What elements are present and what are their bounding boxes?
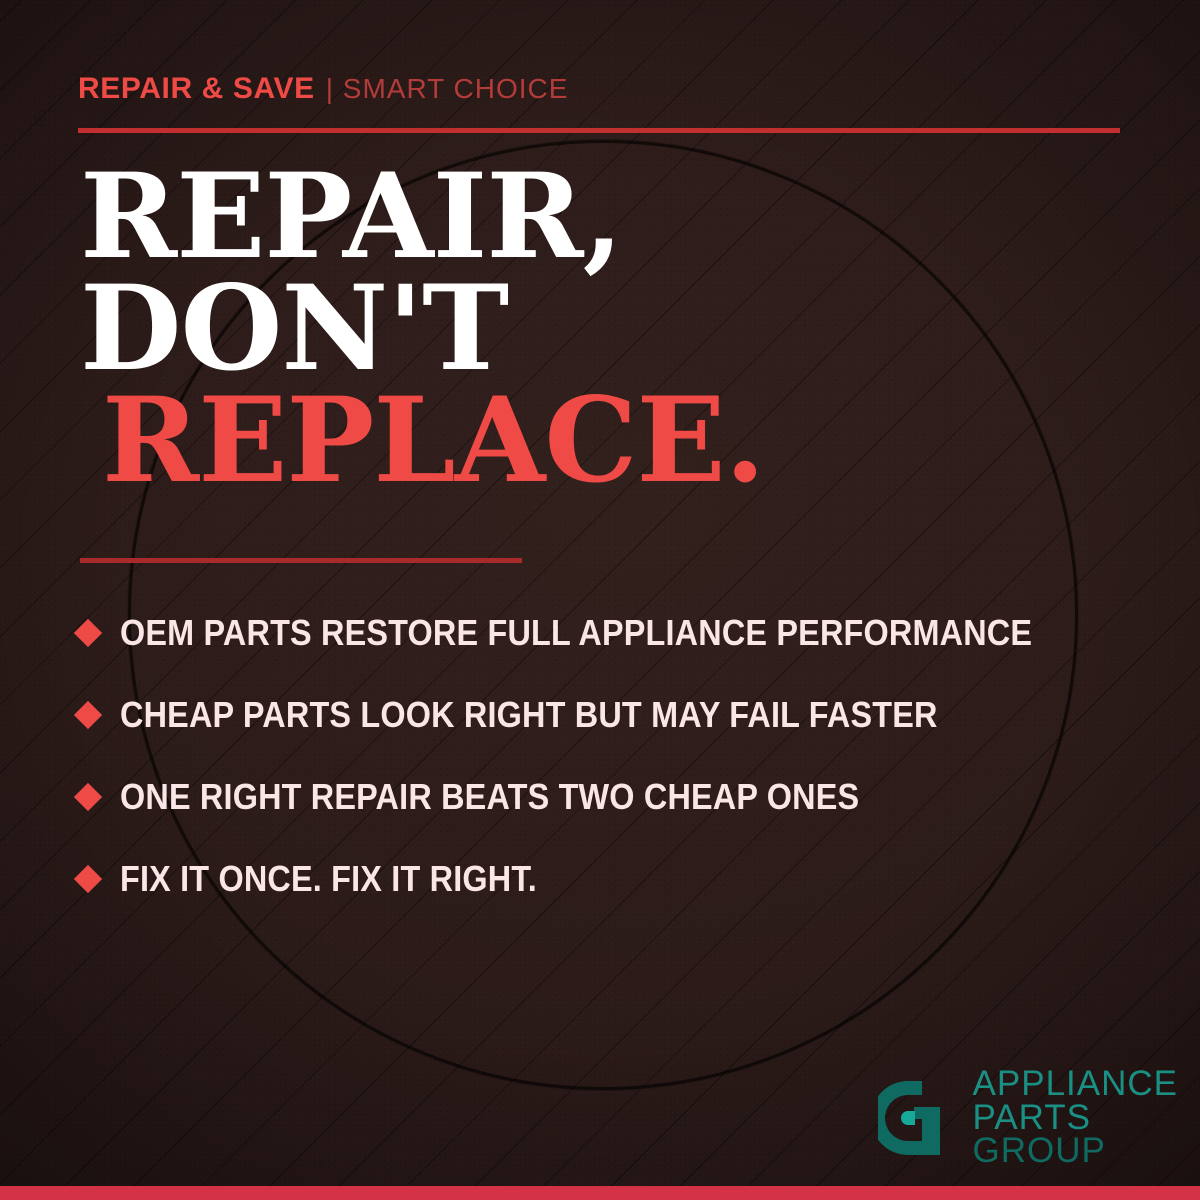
- diamond-bullet-icon: [74, 701, 102, 729]
- brand-line-1: APPLIANCE: [973, 1067, 1178, 1101]
- list-item: OEM PARTS RESTORE FULL APPLIANCE PERFORM…: [78, 592, 1158, 674]
- brand-line-2: PARTS: [973, 1101, 1178, 1135]
- headline-line-2: DON'T: [80, 272, 764, 384]
- eyebrow: REPAIR & SAVE | SMART CHOICE: [78, 72, 568, 106]
- header-divider-rule: [78, 128, 1120, 133]
- list-item-label: CHEAP PARTS LOOK RIGHT BUT MAY FAIL FAST…: [120, 694, 938, 736]
- list-item: CHEAP PARTS LOOK RIGHT BUT MAY FAIL FAST…: [78, 674, 1158, 756]
- poster-content: REPAIR & SAVE | SMART CHOICE REPAIR, DON…: [0, 0, 1200, 1200]
- eyebrow-sub-label: | SMART CHOICE: [326, 73, 569, 105]
- list-item: ONE RIGHT REPAIR BEATS TWO CHEAP ONES: [78, 756, 1158, 838]
- benefits-list: OEM PARTS RESTORE FULL APPLIANCE PERFORM…: [78, 592, 1158, 920]
- headline-line-1: REPAIR,: [80, 160, 764, 272]
- headline-line-3: REPLACE.: [102, 384, 764, 496]
- brand-line-3: GROUP: [973, 1134, 1178, 1168]
- section-divider-rule: [80, 558, 522, 563]
- page-title: REPAIR, DON'T REPLACE.: [80, 160, 764, 496]
- list-item-label: OEM PARTS RESTORE FULL APPLIANCE PERFORM…: [120, 612, 1032, 654]
- list-item-label: FIX IT ONCE. FIX IT RIGHT.: [120, 858, 537, 900]
- diamond-bullet-icon: [74, 783, 102, 811]
- diamond-bullet-icon: [74, 865, 102, 893]
- brand-logo: APPLIANCE PARTS GROUP: [878, 1067, 1178, 1168]
- eyebrow-main-label: REPAIR & SAVE: [78, 72, 315, 106]
- brand-wordmark: APPLIANCE PARTS GROUP: [973, 1067, 1178, 1168]
- bottom-accent-bar: [0, 1186, 1200, 1200]
- list-item: FIX IT ONCE. FIX IT RIGHT.: [78, 838, 1158, 920]
- list-item-label: ONE RIGHT REPAIR BEATS TWO CHEAP ONES: [120, 776, 859, 818]
- diamond-bullet-icon: [74, 619, 102, 647]
- g-monogram-icon: [878, 1079, 960, 1157]
- poster-canvas: REPAIR & SAVE | SMART CHOICE REPAIR, DON…: [0, 0, 1200, 1200]
